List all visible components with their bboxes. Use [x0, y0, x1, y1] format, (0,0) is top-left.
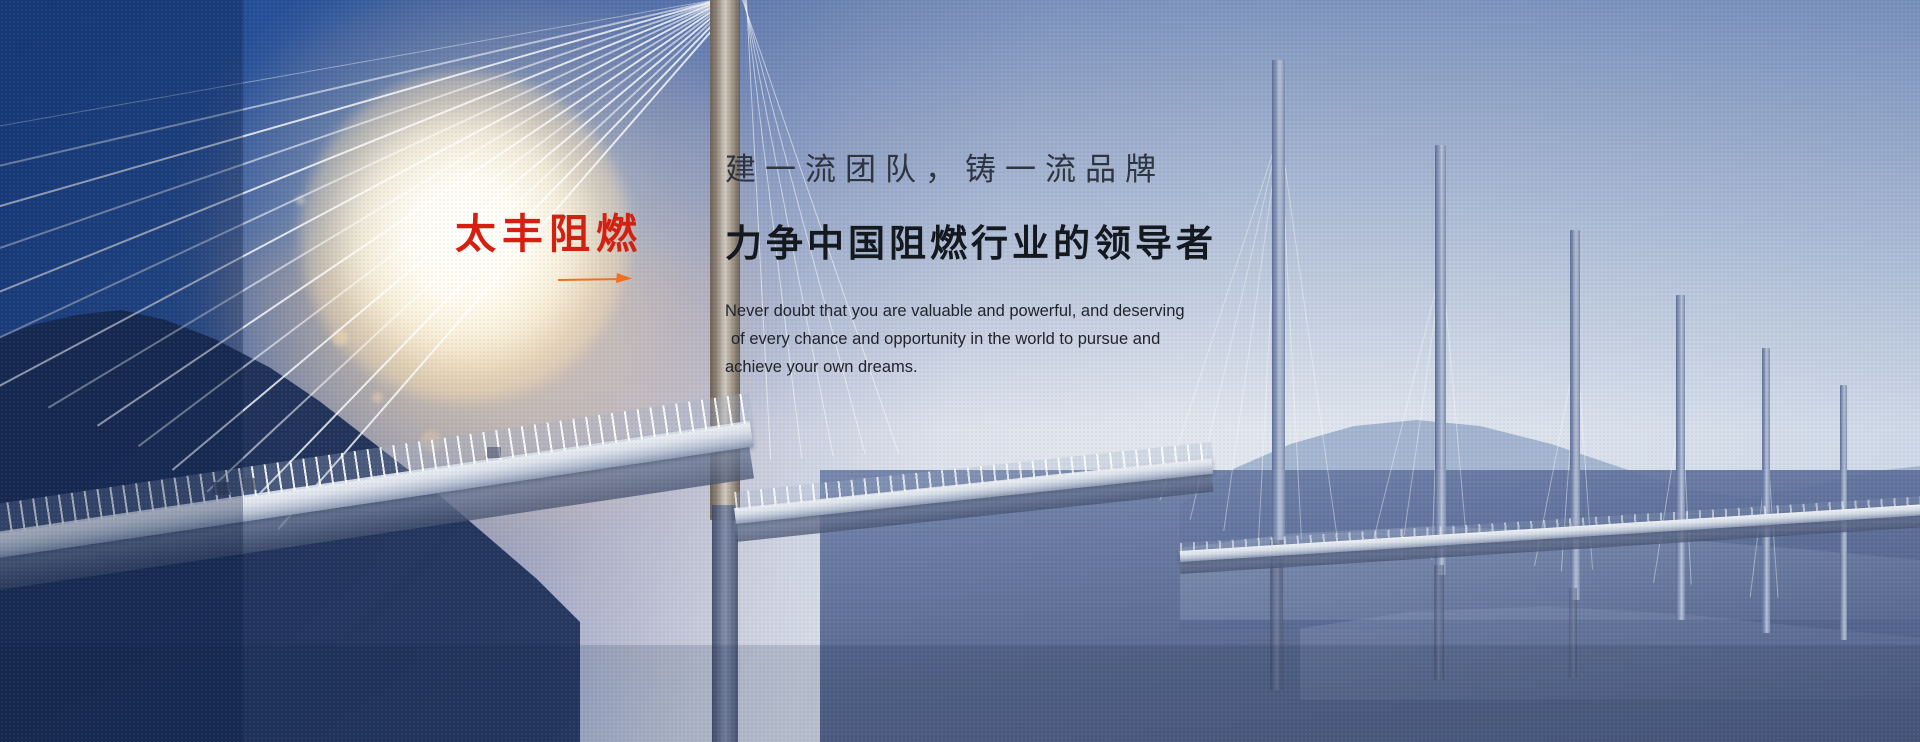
- subcopy-line: achieve your own dreams.: [725, 353, 1445, 381]
- bridge-pylon: [1676, 295, 1685, 620]
- subcopy-line: Never doubt that you are valuable and po…: [725, 297, 1445, 325]
- bridge-pylon: [1762, 348, 1770, 633]
- headline-primary: 建一流团队，铸一流品牌: [725, 144, 1445, 189]
- left-dark-overlay: [0, 0, 243, 742]
- bridge-vehicle: [487, 447, 501, 458]
- brand-logo[interactable]: 太丰阻燃: [455, 212, 685, 257]
- hero-banner: 太丰阻燃 建一流团队，铸一流品牌 力争中国阻燃行业的领导者 Never doub…: [0, 0, 1920, 742]
- arrow-right-icon: [558, 272, 633, 286]
- brand-logo-text: 太丰阻燃: [455, 212, 685, 257]
- hero-copy: 建一流团队，铸一流品牌 力争中国阻燃行业的领导者 Never doubt tha…: [725, 144, 1445, 381]
- hero-subcopy: Never doubt that you are valuable and po…: [725, 297, 1445, 381]
- bridge-vehicle: [243, 478, 256, 490]
- subcopy-line: of every chance and opportunity in the w…: [725, 325, 1445, 353]
- bottom-dark-overlay: [0, 645, 1920, 742]
- lens-flare-dot: [372, 392, 383, 403]
- headline-secondary: 力争中国阻燃行业的领导者: [725, 213, 1445, 267]
